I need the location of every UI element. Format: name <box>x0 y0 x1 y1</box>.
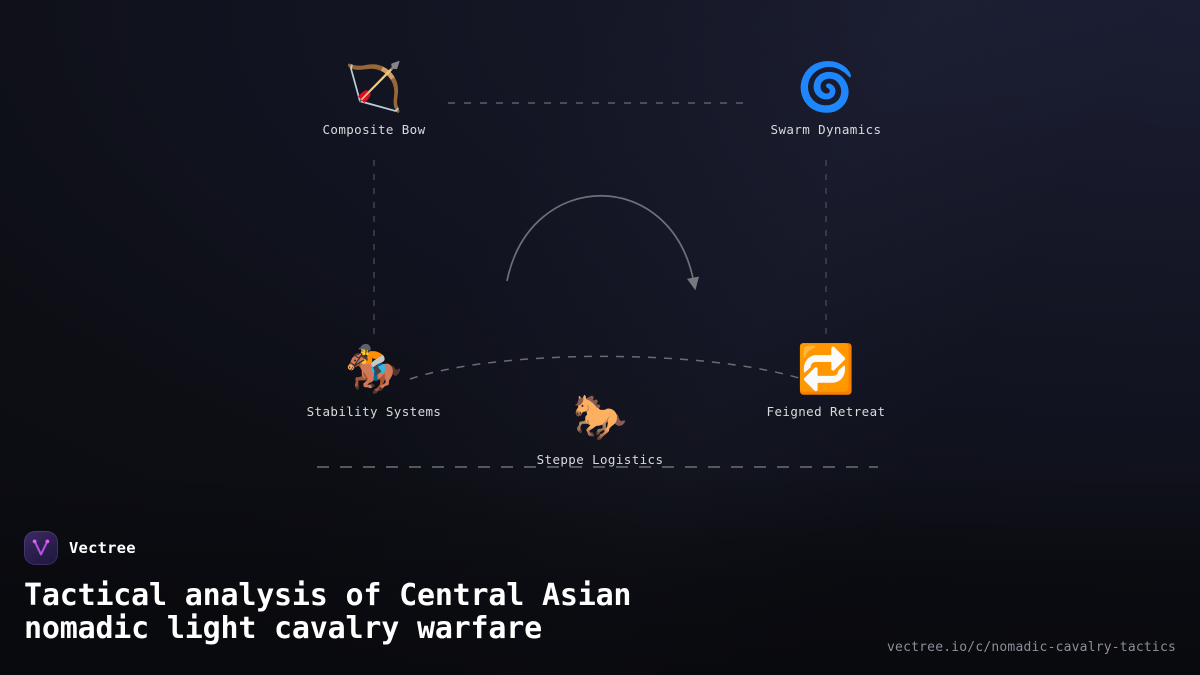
footer: Vectree Tactical analysis of Central Asi… <box>24 531 1176 661</box>
node-label: Steppe Logistics <box>515 452 685 467</box>
bow-and-arrow-icon: 🏹 <box>289 60 459 116</box>
node-label: Swarm Dynamics <box>741 122 911 137</box>
brand-name: Vectree <box>69 539 136 557</box>
horse-racing-icon: 🏇 <box>289 342 459 398</box>
node-stability-systems[interactable]: 🏇 Stability Systems <box>289 342 459 419</box>
node-label: Feigned Retreat <box>741 404 911 419</box>
diagram-canvas: 🏹 Composite Bow 🌀 Swarm Dynamics 🏇 Stabi… <box>0 0 1200 500</box>
node-steppe-logistics[interactable]: 🐎 Steppe Logistics <box>515 390 685 467</box>
node-label: Stability Systems <box>289 404 459 419</box>
arrows-clockwise-icon: 🔁 <box>741 342 911 398</box>
horse-icon: 🐎 <box>515 390 685 446</box>
node-swarm-dynamics[interactable]: 🌀 Swarm Dynamics <box>741 60 911 137</box>
page-title: Tactical analysis of Central Asian nomad… <box>24 579 824 645</box>
cyclone-icon: 🌀 <box>741 60 911 116</box>
node-label: Composite Bow <box>289 122 459 137</box>
source-url: vectree.io/c/nomadic-cavalry-tactics <box>887 640 1176 655</box>
headline-line-2: nomadic light cavalry warfare <box>24 612 824 645</box>
node-composite-bow[interactable]: 🏹 Composite Bow <box>289 60 459 137</box>
node-feigned-retreat[interactable]: 🔁 Feigned Retreat <box>741 342 911 419</box>
headline-line-1: Tactical analysis of Central Asian <box>24 578 631 613</box>
edge-arc-flow <box>507 196 694 283</box>
vectree-branch-logo-icon <box>24 531 58 565</box>
brand-row: Vectree <box>24 531 1176 565</box>
